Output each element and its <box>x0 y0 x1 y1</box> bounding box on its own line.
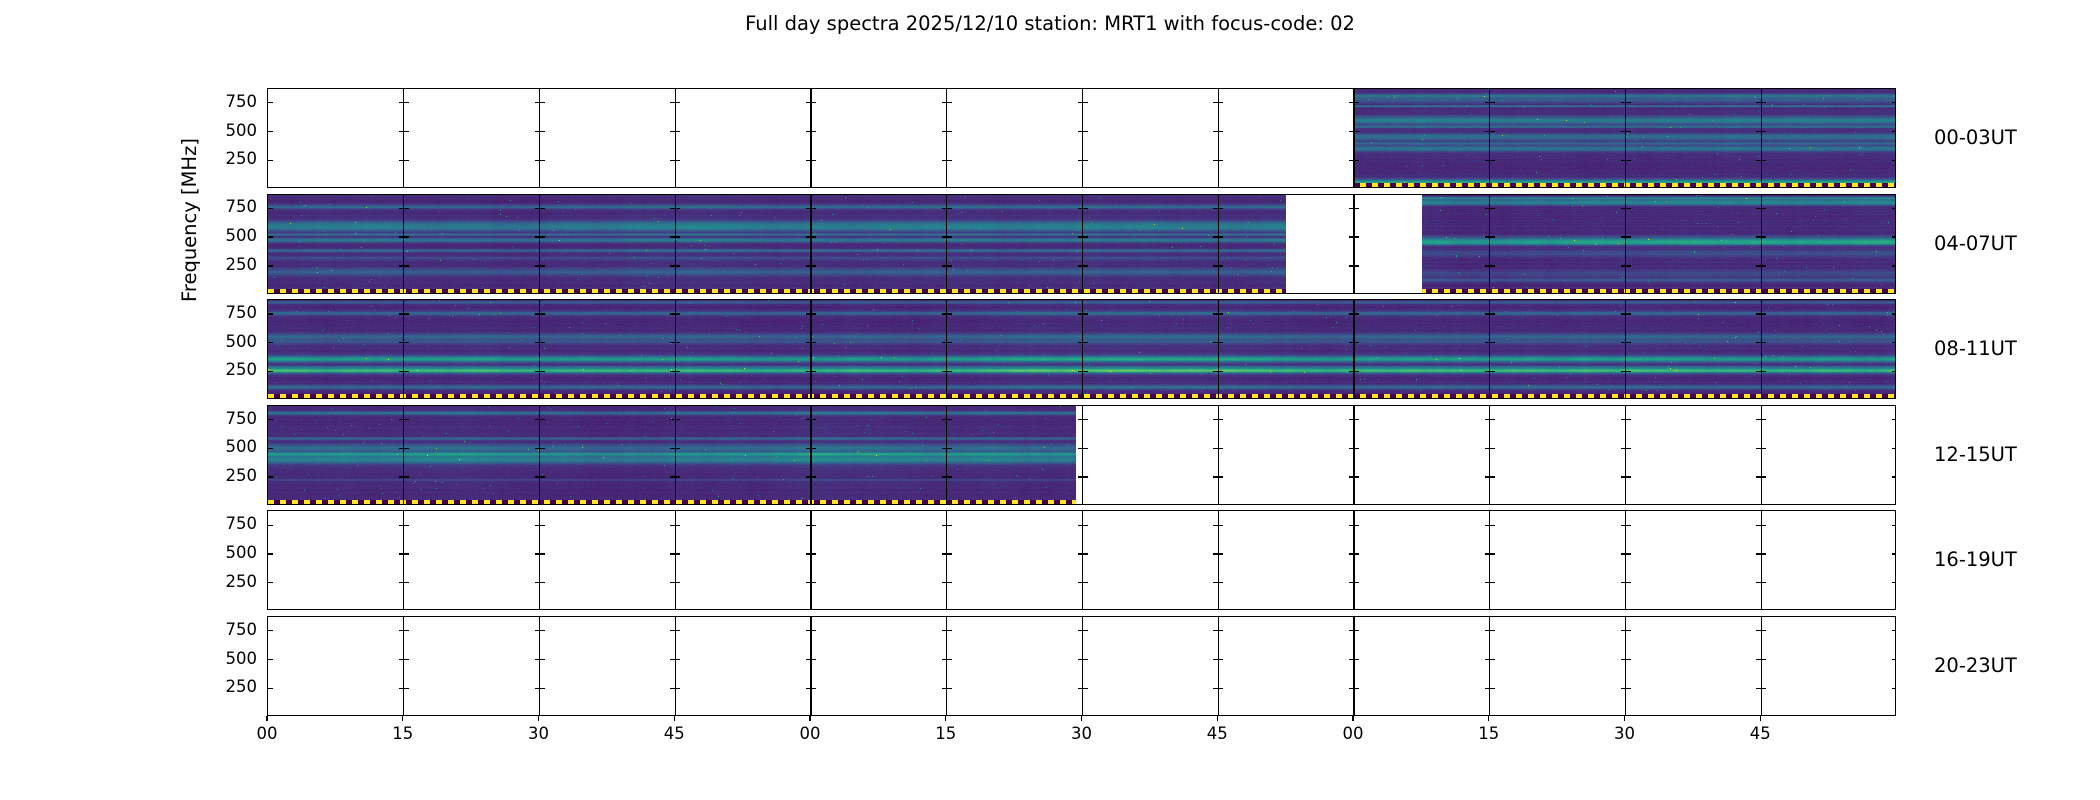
y-tick-mark <box>540 313 545 314</box>
y-tick-mark <box>268 525 273 526</box>
y-tick-mark <box>1761 659 1766 660</box>
y-tick-mark <box>1218 160 1223 161</box>
y-tick-mark <box>1761 419 1766 420</box>
y-tick-mark <box>947 236 952 237</box>
y-tick-mark <box>947 476 952 477</box>
y-tick-mark <box>1354 659 1359 660</box>
y-tick-mark <box>1218 265 1223 266</box>
panel-divider <box>946 511 947 609</box>
y-tick-mark <box>404 160 409 161</box>
x-tick-label: 30 <box>1042 725 1122 743</box>
panel-divider <box>1218 300 1219 398</box>
y-tick-mark <box>1218 659 1223 660</box>
y-tick-mark <box>942 448 947 449</box>
y-tick-mark <box>1083 371 1088 372</box>
panel-divider <box>1082 89 1083 187</box>
y-tick-mark <box>1083 688 1088 689</box>
spectrogram-row-20-23ut[interactable] <box>267 616 1896 716</box>
y-tick-mark <box>1490 313 1495 314</box>
y-tick-mark <box>1218 419 1223 420</box>
y-tick-mark <box>1490 102 1495 103</box>
y-tick-mark <box>811 419 816 420</box>
x-tick-mark <box>266 716 267 721</box>
panel-divider <box>539 406 540 504</box>
panel-divider <box>1489 195 1490 293</box>
y-tick-mark <box>1354 102 1359 103</box>
y-tick-mark <box>1354 553 1359 554</box>
y-tick-label: 500 <box>171 333 257 351</box>
y-tick-mark <box>1083 553 1088 554</box>
y-tick-mark <box>942 553 947 554</box>
y-tick-mark <box>811 102 816 103</box>
y-tick-mark <box>670 131 675 132</box>
panel-divider <box>1082 511 1083 609</box>
y-tick-mark <box>1213 448 1218 449</box>
y-tick-mark <box>811 630 816 631</box>
y-tick-mark <box>540 525 545 526</box>
y-tick-mark <box>942 265 947 266</box>
panel-divider <box>539 300 540 398</box>
y-tick-mark <box>404 102 409 103</box>
y-tick-mark <box>1354 448 1359 449</box>
y-tick-mark <box>1626 265 1631 266</box>
panel-divider <box>1489 406 1490 504</box>
y-tick-mark <box>1892 342 1896 343</box>
y-tick-mark <box>1756 208 1761 209</box>
y-tick-mark <box>942 236 947 237</box>
y-tick-mark <box>535 419 540 420</box>
y-tick-mark <box>1490 236 1495 237</box>
y-tick-mark <box>1626 476 1631 477</box>
y-tick-mark <box>1354 476 1359 477</box>
panel-divider <box>1082 195 1083 293</box>
y-tick-mark <box>535 448 540 449</box>
panel-divider <box>1218 617 1219 715</box>
y-tick-mark <box>1490 160 1495 161</box>
y-tick-mark <box>675 448 680 449</box>
y-tick-mark <box>1083 265 1088 266</box>
y-tick-mark <box>1626 236 1631 237</box>
y-tick-mark <box>540 371 545 372</box>
y-tick-mark <box>947 659 952 660</box>
y-tick-mark <box>1621 131 1626 132</box>
y-tick-mark <box>811 448 816 449</box>
y-tick-mark <box>1761 371 1766 372</box>
y-tick-mark <box>670 525 675 526</box>
y-tick-mark <box>1621 476 1626 477</box>
y-tick-mark <box>1213 371 1218 372</box>
y-tick-mark <box>675 688 680 689</box>
panel-divider <box>403 89 404 187</box>
y-tick-label: 750 <box>171 410 257 428</box>
y-tick-mark <box>540 265 545 266</box>
y-tick-mark <box>1761 160 1766 161</box>
y-tick-mark <box>1756 448 1761 449</box>
y-tick-mark <box>535 160 540 161</box>
y-tick-mark <box>675 582 680 583</box>
y-tick-mark <box>806 131 811 132</box>
y-tick-mark <box>404 448 409 449</box>
panel-divider <box>1082 617 1083 715</box>
y-tick-label: 750 <box>171 304 257 322</box>
x-tick-mark <box>402 716 403 721</box>
panel-divider <box>946 89 947 187</box>
y-tick-mark <box>675 371 680 372</box>
panel-divider <box>1353 195 1354 293</box>
panel-divider <box>1353 511 1354 609</box>
y-tick-mark <box>947 448 952 449</box>
y-tick-mark <box>1218 476 1223 477</box>
y-tick-mark <box>1621 582 1626 583</box>
y-tick-mark <box>1892 313 1896 314</box>
y-tick-mark <box>1490 476 1495 477</box>
y-tick-mark <box>1761 131 1766 132</box>
y-tick-label: 500 <box>171 227 257 245</box>
y-tick-mark <box>399 582 404 583</box>
y-tick-mark <box>1083 160 1088 161</box>
x-tick-label: 45 <box>1177 725 1257 743</box>
y-tick-mark <box>1892 265 1896 266</box>
y-tick-mark <box>1756 160 1761 161</box>
y-tick-mark <box>1485 553 1490 554</box>
y-tick-mark <box>399 553 404 554</box>
y-tick-label: 750 <box>171 198 257 216</box>
y-tick-mark <box>399 448 404 449</box>
y-tick-mark <box>268 476 273 477</box>
y-tick-mark <box>1756 476 1761 477</box>
y-tick-mark <box>1213 236 1218 237</box>
y-tick-mark <box>947 371 952 372</box>
y-tick-mark <box>1218 688 1223 689</box>
panel-divider <box>1353 300 1354 398</box>
y-tick-mark <box>675 102 680 103</box>
panel-divider <box>1353 89 1354 187</box>
y-tick-mark <box>268 630 273 631</box>
y-tick-mark <box>1626 659 1631 660</box>
y-tick-mark <box>1485 208 1490 209</box>
y-tick-mark <box>806 419 811 420</box>
y-tick-mark <box>1892 659 1896 660</box>
y-tick-mark <box>535 630 540 631</box>
y-tick-mark <box>268 208 273 209</box>
panel-divider <box>810 89 811 187</box>
y-tick-mark <box>540 419 545 420</box>
y-tick-mark <box>947 582 952 583</box>
y-tick-mark <box>268 371 273 372</box>
y-tick-mark <box>1083 131 1088 132</box>
y-tick-mark <box>947 630 952 631</box>
y-tick-mark <box>535 342 540 343</box>
y-tick-mark <box>1485 236 1490 237</box>
y-tick-mark <box>670 582 675 583</box>
y-tick-mark <box>535 688 540 689</box>
y-tick-mark <box>1892 371 1896 372</box>
y-tick-mark <box>1083 582 1088 583</box>
y-tick-mark <box>1756 525 1761 526</box>
y-tick-mark <box>670 659 675 660</box>
y-tick-mark <box>806 659 811 660</box>
panel-divider <box>1761 195 1762 293</box>
panel-divider <box>1218 89 1219 187</box>
y-tick-mark <box>540 102 545 103</box>
y-tick-mark <box>535 553 540 554</box>
y-tick-mark <box>811 553 816 554</box>
y-tick-mark <box>1621 659 1626 660</box>
y-tick-mark <box>1756 313 1761 314</box>
y-tick-mark <box>1349 476 1354 477</box>
panel-divider <box>1489 617 1490 715</box>
y-tick-mark <box>1756 265 1761 266</box>
y-tick-mark <box>675 208 680 209</box>
y-tick-mark <box>947 313 952 314</box>
y-tick-mark <box>1626 582 1631 583</box>
panel-divider <box>1625 89 1626 187</box>
y-tick-mark <box>399 236 404 237</box>
y-tick-mark <box>399 688 404 689</box>
y-tick-mark <box>1761 476 1766 477</box>
panel-divider <box>1353 617 1354 715</box>
y-tick-mark <box>1078 448 1083 449</box>
y-tick-mark <box>1892 131 1896 132</box>
y-tick-mark <box>1213 525 1218 526</box>
y-tick-mark <box>399 371 404 372</box>
y-tick-mark <box>806 371 811 372</box>
y-tick-mark <box>1626 313 1631 314</box>
y-tick-mark <box>1892 476 1896 477</box>
y-tick-mark <box>806 313 811 314</box>
y-tick-mark <box>1213 208 1218 209</box>
y-tick-mark <box>1490 659 1495 660</box>
y-tick-mark <box>947 419 952 420</box>
panel-divider <box>946 195 947 293</box>
y-tick-mark <box>1213 553 1218 554</box>
y-tick-mark <box>1485 342 1490 343</box>
y-tick-mark <box>675 553 680 554</box>
y-tick-mark <box>1626 371 1631 372</box>
x-tick-mark <box>1624 716 1625 721</box>
y-tick-mark <box>1218 102 1223 103</box>
spectrogram-row-12-15ut[interactable] <box>267 405 1896 505</box>
y-tick-mark <box>1213 131 1218 132</box>
y-tick-mark <box>540 582 545 583</box>
y-tick-mark <box>811 342 816 343</box>
row-label-12-15ut: 12-15UT <box>1934 444 2017 466</box>
y-tick-mark <box>1354 208 1359 209</box>
y-tick-mark <box>268 236 273 237</box>
y-tick-mark <box>1078 630 1083 631</box>
panel-divider <box>675 195 676 293</box>
y-tick-mark <box>540 208 545 209</box>
y-tick-mark <box>1490 448 1495 449</box>
y-tick-mark <box>404 688 409 689</box>
y-tick-mark <box>268 659 273 660</box>
y-tick-mark <box>947 160 952 161</box>
y-tick-mark <box>675 659 680 660</box>
y-tick-mark <box>1626 208 1631 209</box>
y-tick-mark <box>1892 208 1896 209</box>
y-tick-mark <box>1354 236 1359 237</box>
panel-divider <box>946 300 947 398</box>
row-label-20-23ut: 20-23UT <box>1934 655 2017 677</box>
y-tick-mark <box>1354 160 1359 161</box>
y-tick-mark <box>1354 342 1359 343</box>
y-tick-mark <box>1349 102 1354 103</box>
y-tick-mark <box>1349 208 1354 209</box>
x-tick-label: 15 <box>363 725 443 743</box>
y-tick-mark <box>1761 688 1766 689</box>
y-tick-label: 500 <box>171 122 257 140</box>
y-tick-mark <box>1761 525 1766 526</box>
y-tick-mark <box>1213 160 1218 161</box>
y-tick-mark <box>1756 688 1761 689</box>
y-tick-mark <box>1761 102 1766 103</box>
y-tick-mark <box>404 236 409 237</box>
x-tick-mark <box>1217 716 1218 721</box>
y-tick-mark <box>1490 342 1495 343</box>
y-tick-mark <box>535 265 540 266</box>
y-tick-mark <box>1756 236 1761 237</box>
y-tick-mark <box>811 582 816 583</box>
y-tick-mark <box>268 553 273 554</box>
row-label-04-07ut: 04-07UT <box>1934 233 2017 255</box>
panel-divider <box>403 406 404 504</box>
panel-divider <box>539 89 540 187</box>
y-tick-mark <box>1218 342 1223 343</box>
panel-divider <box>1625 406 1626 504</box>
y-tick-mark <box>675 476 680 477</box>
y-tick-mark <box>806 448 811 449</box>
panel-divider <box>810 195 811 293</box>
y-tick-mark <box>1892 630 1896 631</box>
y-tick-mark <box>806 476 811 477</box>
y-tick-mark <box>1756 419 1761 420</box>
y-tick-mark <box>1078 102 1083 103</box>
y-tick-mark <box>1756 131 1761 132</box>
y-tick-mark <box>399 160 404 161</box>
y-tick-mark <box>540 630 545 631</box>
y-tick-mark <box>1621 630 1626 631</box>
y-tick-mark <box>1078 659 1083 660</box>
x-tick-label: 45 <box>634 725 714 743</box>
y-tick-mark <box>399 630 404 631</box>
y-tick-mark <box>1218 313 1223 314</box>
y-tick-mark <box>1756 659 1761 660</box>
y-tick-mark <box>1218 131 1223 132</box>
x-tick-mark <box>1352 716 1353 721</box>
y-tick-mark <box>806 208 811 209</box>
y-tick-mark <box>404 265 409 266</box>
x-tick-label: 30 <box>1585 725 1665 743</box>
panel-divider <box>810 406 811 504</box>
y-tick-mark <box>404 371 409 372</box>
y-tick-mark <box>675 265 680 266</box>
panel-divider <box>675 300 676 398</box>
y-tick-mark <box>675 236 680 237</box>
y-tick-mark <box>1490 371 1495 372</box>
y-tick-mark <box>811 476 816 477</box>
y-tick-mark <box>1892 688 1896 689</box>
y-tick-mark <box>1354 371 1359 372</box>
y-tick-mark <box>1490 582 1495 583</box>
y-tick-mark <box>399 131 404 132</box>
y-tick-mark <box>1621 102 1626 103</box>
panel-divider <box>403 195 404 293</box>
y-tick-mark <box>404 659 409 660</box>
y-tick-mark <box>535 208 540 209</box>
panel-divider <box>1761 406 1762 504</box>
y-tick-mark <box>1349 448 1354 449</box>
y-tick-mark <box>942 525 947 526</box>
panel-divider <box>539 511 540 609</box>
panel-divider <box>810 617 811 715</box>
panel-divider <box>810 511 811 609</box>
panel-divider <box>675 406 676 504</box>
y-tick-mark <box>1490 525 1495 526</box>
y-tick-mark <box>1078 208 1083 209</box>
y-tick-mark <box>404 131 409 132</box>
y-tick-mark <box>675 131 680 132</box>
spectrogram-row-00-03ut[interactable] <box>267 88 1896 188</box>
x-tick-mark <box>1488 716 1489 721</box>
spectrogram-row-04-07ut[interactable] <box>267 194 1896 294</box>
y-tick-mark <box>1485 102 1490 103</box>
y-tick-mark <box>947 102 952 103</box>
y-tick-mark <box>1621 313 1626 314</box>
y-tick-mark <box>535 236 540 237</box>
y-tick-mark <box>1485 265 1490 266</box>
y-tick-mark <box>268 342 273 343</box>
y-tick-mark <box>1218 448 1223 449</box>
y-tick-mark <box>404 419 409 420</box>
panel-divider <box>1761 617 1762 715</box>
y-tick-mark <box>675 630 680 631</box>
y-tick-mark <box>942 582 947 583</box>
y-tick-mark <box>535 525 540 526</box>
y-tick-mark <box>535 582 540 583</box>
y-tick-label: 250 <box>171 573 257 591</box>
y-tick-mark <box>268 131 273 132</box>
y-tick-mark <box>540 160 545 161</box>
panel-divider <box>1489 300 1490 398</box>
y-tick-mark <box>1354 313 1359 314</box>
y-tick-mark <box>399 102 404 103</box>
y-tick-mark <box>399 208 404 209</box>
y-tick-mark <box>268 448 273 449</box>
y-tick-mark <box>1354 630 1359 631</box>
y-tick-mark <box>1485 419 1490 420</box>
spectrogram-row-16-19ut[interactable] <box>267 510 1896 610</box>
y-tick-mark <box>1213 659 1218 660</box>
y-tick-mark <box>1485 160 1490 161</box>
y-tick-mark <box>1756 342 1761 343</box>
y-tick-mark <box>806 582 811 583</box>
spectrogram-row-08-11ut[interactable] <box>267 299 1896 399</box>
y-tick-mark <box>404 476 409 477</box>
y-tick-mark <box>1490 419 1495 420</box>
y-tick-label: 250 <box>171 361 257 379</box>
y-tick-mark <box>1490 630 1495 631</box>
panel-divider <box>539 617 540 715</box>
y-tick-mark <box>670 630 675 631</box>
x-tick-label: 00 <box>227 725 307 743</box>
panel-divider <box>1761 89 1762 187</box>
y-tick-mark <box>1078 688 1083 689</box>
y-tick-mark <box>1761 236 1766 237</box>
panel-divider <box>539 195 540 293</box>
x-tick-mark <box>945 716 946 721</box>
y-tick-mark <box>1083 525 1088 526</box>
y-tick-mark <box>1078 582 1083 583</box>
